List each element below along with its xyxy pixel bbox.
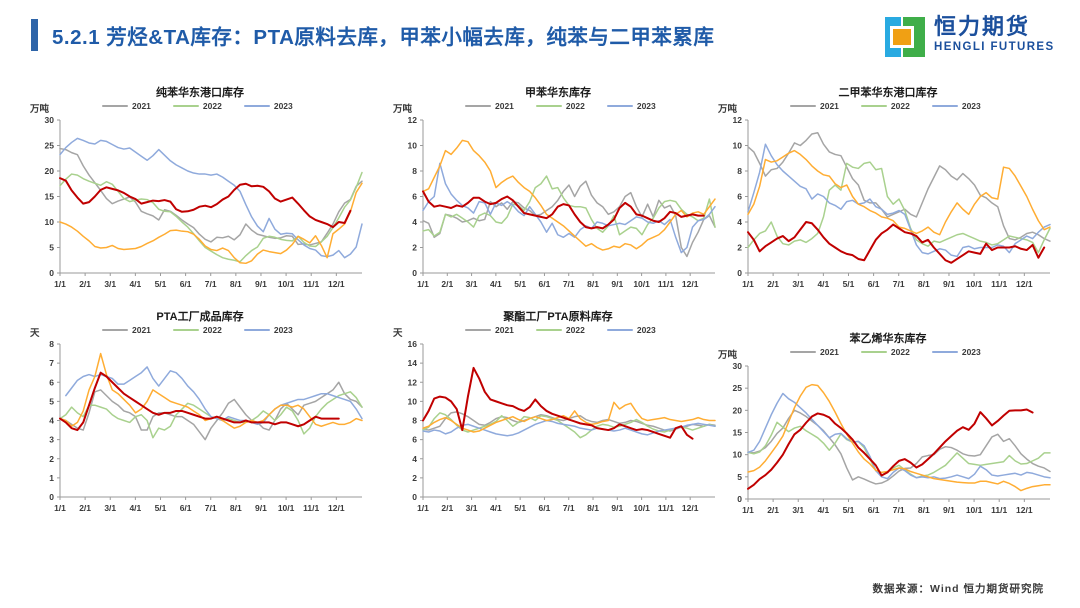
series-line-2023 [66, 367, 362, 424]
svg-text:6: 6 [412, 435, 417, 445]
svg-text:11/1: 11/1 [991, 505, 1007, 515]
series-line-2021 [60, 382, 362, 439]
svg-text:5/1: 5/1 [155, 279, 167, 289]
svg-text:8/1: 8/1 [918, 505, 930, 515]
svg-text:3/1: 3/1 [104, 503, 116, 513]
svg-text:11/1: 11/1 [303, 503, 319, 513]
svg-text:1/1: 1/1 [54, 503, 66, 513]
svg-text:0: 0 [49, 268, 54, 278]
svg-text:7/1: 7/1 [563, 503, 575, 513]
svg-text:10/1: 10/1 [633, 279, 650, 289]
svg-text:3/1: 3/1 [104, 279, 116, 289]
svg-text:8: 8 [412, 416, 417, 426]
svg-text:0: 0 [737, 494, 742, 504]
svg-text:12: 12 [733, 115, 743, 125]
svg-text:1/1: 1/1 [417, 503, 429, 513]
svg-text:6: 6 [737, 192, 742, 202]
svg-text:2/1: 2/1 [79, 503, 91, 513]
svg-text:4/1: 4/1 [490, 503, 502, 513]
hengli-futures-logo: 恒力期货 HENGLI FUTURES [884, 14, 1059, 62]
series-line-2022 [748, 422, 1050, 477]
svg-text:3/1: 3/1 [792, 279, 804, 289]
svg-text:6/1: 6/1 [180, 279, 192, 289]
svg-text:1/1: 1/1 [417, 279, 429, 289]
svg-text:2: 2 [412, 473, 417, 483]
svg-text:2/1: 2/1 [79, 279, 91, 289]
svg-text:4/1: 4/1 [817, 279, 829, 289]
series-line-2022 [60, 173, 362, 262]
svg-text:6: 6 [49, 377, 54, 387]
svg-text:12: 12 [408, 377, 418, 387]
svg-text:7/1: 7/1 [893, 505, 905, 515]
logo-cn-text: 恒力期货 [934, 14, 1055, 40]
chart-plot: 0510152025301/12/13/14/15/16/17/18/19/11… [718, 330, 1058, 525]
series-line-orange [748, 151, 1050, 235]
series-line-red [60, 178, 350, 227]
svg-text:0: 0 [412, 492, 417, 502]
chart-polyester-pta-raw: 聚酯工厂PTA原料库存天20212022202302468101214161/1… [393, 308, 723, 523]
series-line-red [60, 373, 339, 430]
svg-text:9/1: 9/1 [943, 279, 955, 289]
series-line-2021 [748, 133, 1050, 241]
svg-text:10: 10 [45, 217, 55, 227]
svg-text:2: 2 [412, 243, 417, 253]
svg-text:10: 10 [733, 141, 743, 151]
chart-xylene-port: 二甲苯华东港口库存万吨2021202220230246810121/12/13/… [718, 84, 1058, 299]
svg-text:10: 10 [408, 396, 418, 406]
series-line-2021 [748, 410, 1050, 484]
svg-text:5/1: 5/1 [843, 279, 855, 289]
svg-text:11/1: 11/1 [658, 279, 674, 289]
svg-text:3: 3 [49, 435, 54, 445]
svg-text:5/1: 5/1 [514, 503, 526, 513]
svg-text:1: 1 [49, 473, 54, 483]
svg-text:6/1: 6/1 [180, 503, 192, 513]
svg-text:5: 5 [49, 243, 54, 253]
svg-text:11/1: 11/1 [991, 279, 1007, 289]
svg-text:11/1: 11/1 [658, 503, 674, 513]
chart-plot: 0246810121/12/13/14/15/16/17/18/19/110/1… [393, 84, 723, 299]
svg-text:30: 30 [733, 361, 743, 371]
page-header: 5.2.1 芳烃&TA库存：PTA原料去库，甲苯小幅去库，纯苯与二甲苯累库 恒力… [0, 0, 1080, 72]
svg-text:7/1: 7/1 [563, 279, 575, 289]
logo-text: 恒力期货 HENGLI FUTURES [934, 14, 1055, 54]
svg-text:1/1: 1/1 [742, 505, 754, 515]
svg-text:4: 4 [412, 454, 417, 464]
svg-text:6/1: 6/1 [868, 505, 880, 515]
svg-text:5/1: 5/1 [155, 503, 167, 513]
chart-styrene-east: 苯乙烯华东库存万吨2021202220230510152025301/12/13… [718, 330, 1058, 525]
svg-text:10/1: 10/1 [278, 279, 295, 289]
svg-text:6/1: 6/1 [539, 503, 551, 513]
series-line-2021 [423, 181, 715, 256]
chart-plot: 0246810121/12/13/14/15/16/17/18/19/110/1… [718, 84, 1058, 299]
svg-text:12/1: 12/1 [328, 279, 345, 289]
svg-text:10/1: 10/1 [966, 505, 983, 515]
svg-text:12/1: 12/1 [1016, 279, 1033, 289]
svg-text:9/1: 9/1 [611, 503, 623, 513]
svg-text:8: 8 [49, 339, 54, 349]
svg-text:2/1: 2/1 [767, 505, 779, 515]
svg-text:0: 0 [49, 492, 54, 502]
svg-text:5: 5 [49, 396, 54, 406]
svg-text:7/1: 7/1 [205, 279, 217, 289]
svg-text:4: 4 [412, 217, 417, 227]
svg-text:12/1: 12/1 [682, 279, 699, 289]
svg-text:25: 25 [45, 141, 55, 151]
svg-text:4/1: 4/1 [490, 279, 502, 289]
svg-text:2: 2 [737, 243, 742, 253]
svg-text:4/1: 4/1 [129, 503, 141, 513]
svg-text:9/1: 9/1 [255, 503, 267, 513]
chart-plot: 0510152025301/12/13/14/15/16/17/18/19/11… [30, 84, 370, 299]
svg-text:8/1: 8/1 [230, 279, 242, 289]
svg-text:12/1: 12/1 [328, 503, 345, 513]
svg-text:2: 2 [49, 454, 54, 464]
svg-text:3/1: 3/1 [466, 503, 478, 513]
svg-text:9/1: 9/1 [611, 279, 623, 289]
series-line-2022 [60, 392, 362, 438]
svg-text:20: 20 [45, 166, 55, 176]
svg-text:11/1: 11/1 [303, 279, 319, 289]
svg-text:6: 6 [412, 192, 417, 202]
svg-text:7/1: 7/1 [893, 279, 905, 289]
svg-text:5/1: 5/1 [843, 505, 855, 515]
page-title: 5.2.1 芳烃&TA库存：PTA原料去库，甲苯小幅去库，纯苯与二甲苯累库 [52, 20, 714, 50]
svg-text:30: 30 [45, 115, 55, 125]
svg-text:1/1: 1/1 [742, 279, 754, 289]
svg-text:12/1: 12/1 [1016, 505, 1033, 515]
title-accent-bar [31, 19, 38, 51]
svg-text:15: 15 [45, 192, 55, 202]
svg-text:10/1: 10/1 [278, 503, 295, 513]
svg-text:5/1: 5/1 [514, 279, 526, 289]
series-line-2021 [60, 149, 362, 245]
svg-text:10/1: 10/1 [633, 503, 650, 513]
svg-text:3/1: 3/1 [792, 505, 804, 515]
svg-text:16: 16 [408, 339, 418, 349]
svg-text:9/1: 9/1 [943, 505, 955, 515]
chart-toluene-east: 甲苯华东库存万吨2021202220230246810121/12/13/14/… [393, 84, 723, 299]
svg-text:0: 0 [737, 268, 742, 278]
svg-text:14: 14 [408, 358, 418, 368]
svg-text:8/1: 8/1 [587, 503, 599, 513]
svg-text:4: 4 [49, 416, 54, 426]
svg-text:4: 4 [737, 217, 742, 227]
svg-text:8: 8 [412, 166, 417, 176]
svg-text:4/1: 4/1 [817, 505, 829, 515]
chart-plot: 02468101214161/12/13/14/15/16/17/18/19/1… [393, 308, 723, 523]
svg-text:6/1: 6/1 [539, 279, 551, 289]
chart-pta-factory: PTA工厂成品库存天2021202220230123456781/12/13/1… [30, 308, 370, 523]
svg-text:12/1: 12/1 [682, 503, 699, 513]
svg-text:8/1: 8/1 [918, 279, 930, 289]
svg-text:3/1: 3/1 [466, 279, 478, 289]
svg-text:8/1: 8/1 [587, 279, 599, 289]
data-source-note: 数据来源：Wind 恒力期货研究院 [873, 581, 1044, 596]
svg-text:7/1: 7/1 [205, 503, 217, 513]
svg-text:25: 25 [733, 383, 743, 393]
svg-text:10/1: 10/1 [966, 279, 983, 289]
logo-en-text: HENGLI FUTURES [934, 41, 1055, 54]
svg-text:10: 10 [408, 141, 418, 151]
svg-text:8/1: 8/1 [230, 503, 242, 513]
svg-text:1/1: 1/1 [54, 279, 66, 289]
svg-text:5: 5 [737, 472, 742, 482]
chart-benzene-port: 纯苯华东港口库存万吨2021202220230510152025301/12/1… [30, 84, 370, 299]
svg-text:7: 7 [49, 358, 54, 368]
svg-text:6/1: 6/1 [868, 279, 880, 289]
svg-text:10: 10 [733, 450, 743, 460]
svg-text:12: 12 [408, 115, 418, 125]
svg-text:15: 15 [733, 428, 743, 438]
svg-text:2/1: 2/1 [441, 279, 453, 289]
svg-text:20: 20 [733, 405, 743, 415]
svg-text:9/1: 9/1 [255, 279, 267, 289]
svg-text:8: 8 [737, 166, 742, 176]
svg-text:2/1: 2/1 [441, 503, 453, 513]
chart-plot: 0123456781/12/13/14/15/16/17/18/19/110/1… [30, 308, 370, 523]
svg-text:2/1: 2/1 [767, 279, 779, 289]
series-line-red [748, 409, 1033, 488]
svg-text:0: 0 [412, 268, 417, 278]
logo-mark-icon [884, 16, 926, 58]
svg-text:4/1: 4/1 [129, 279, 141, 289]
